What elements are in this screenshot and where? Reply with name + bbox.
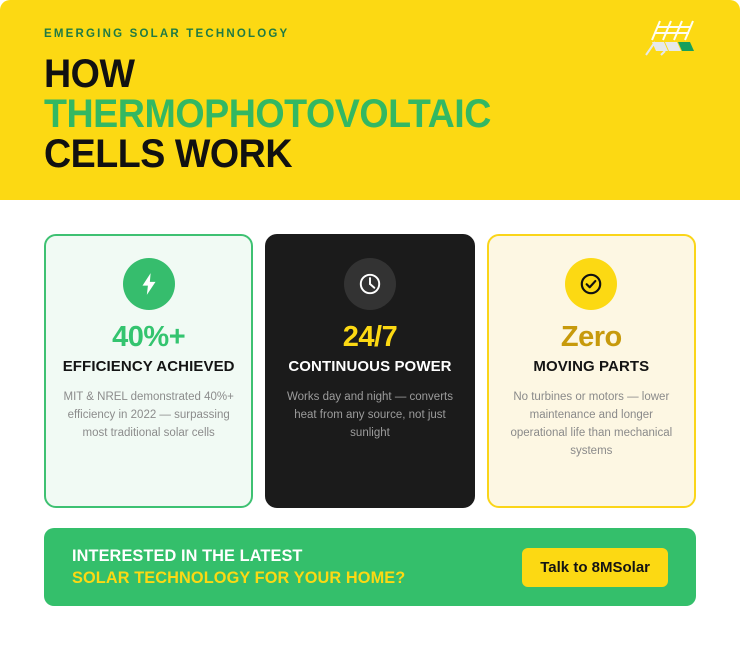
card-stat: 40%+ — [112, 322, 185, 352]
card-body-text: MIT & NREL demonstrated 40%+ efficiency … — [62, 389, 235, 442]
header-banner: EMERGING SOLAR TECHNOLOGY HOW THERMOPHOT… — [0, 0, 740, 200]
feature-card-list: 40%+ EFFICIENCY ACHIEVED MIT & NREL demo… — [0, 200, 740, 508]
talk-to-8msolar-button[interactable]: Talk to 8MSolar — [522, 548, 668, 587]
eyebrow-label: EMERGING SOLAR TECHNOLOGY — [44, 28, 696, 42]
feature-card-efficiency: 40%+ EFFICIENCY ACHIEVED MIT & NREL demo… — [44, 234, 253, 508]
card-body-text: Works day and night — converts heat from… — [283, 389, 456, 442]
clock-icon — [344, 258, 396, 310]
card-body-text: No turbines or motors — lower maintenanc… — [505, 389, 678, 460]
cta-banner: INTERESTED IN THE LATEST SOLAR TECHNOLOG… — [44, 528, 696, 606]
infographic-root: EMERGING SOLAR TECHNOLOGY HOW THERMOPHOT… — [0, 0, 740, 650]
solar-panel-icon — [640, 18, 696, 56]
feature-card-continuous-power: 24/7 CONTINUOUS POWER Works day and nigh… — [265, 234, 474, 508]
cta-headline-line-2: SOLAR TECHNOLOGY FOR YOUR HOME? — [72, 567, 405, 589]
card-title: MOVING PARTS — [533, 358, 649, 377]
cta-headline-line-1: INTERESTED IN THE LATEST — [72, 545, 405, 567]
page-title-line-3: CELLS WORK — [44, 134, 657, 174]
feature-card-moving-parts: Zero MOVING PARTS No turbines or motors … — [487, 234, 696, 508]
page-title: HOW THERMOPHOTOVOLTAIC CELLS WORK — [44, 54, 657, 174]
card-stat: 24/7 — [343, 322, 397, 352]
card-title: EFFICIENCY ACHIEVED — [63, 358, 235, 377]
card-stat: Zero — [561, 322, 622, 352]
cta-text: INTERESTED IN THE LATEST SOLAR TECHNOLOG… — [72, 545, 419, 590]
card-title: CONTINUOUS POWER — [288, 358, 451, 377]
cta-section: INTERESTED IN THE LATEST SOLAR TECHNOLOG… — [0, 508, 740, 606]
page-title-line-1: HOW — [44, 54, 657, 94]
page-title-line-2: THERMOPHOTOVOLTAIC — [44, 94, 657, 134]
lightning-bolt-icon — [123, 258, 175, 310]
check-circle-icon — [565, 258, 617, 310]
